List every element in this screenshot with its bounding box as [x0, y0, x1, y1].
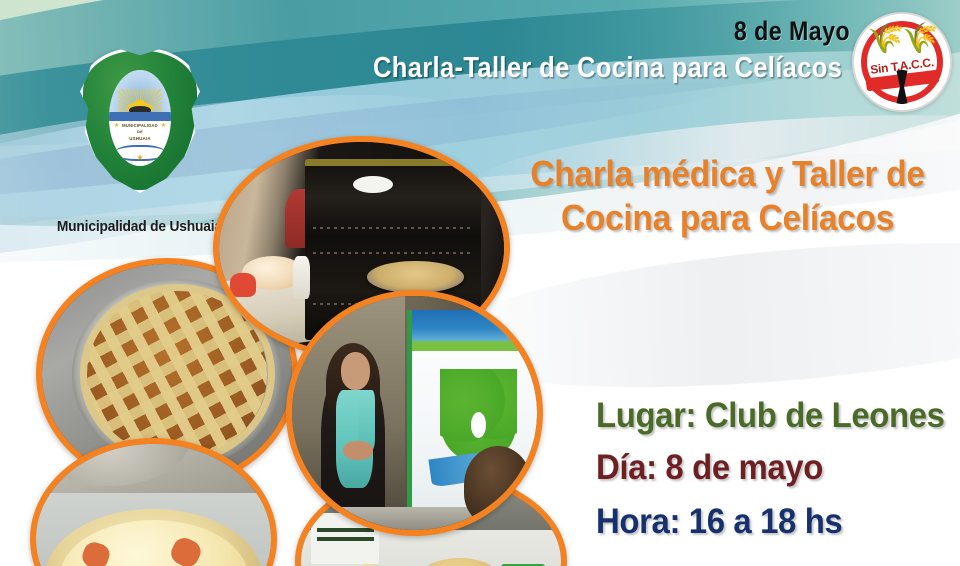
pizza-tart-photo	[30, 438, 277, 566]
oven-rack	[313, 252, 473, 254]
oven-brand-badge	[353, 176, 393, 193]
crest-bottom-star-icon: ★	[136, 154, 143, 162]
crest-line2: DE	[109, 130, 171, 134]
banner-blue-header	[412, 310, 537, 341]
header-date: 8 de Mayo	[734, 16, 850, 47]
baking-pie	[367, 261, 464, 293]
crest-line3: USHUAIA	[109, 137, 171, 141]
pizza-tray	[30, 438, 191, 486]
sign-text-line	[317, 537, 374, 541]
banner-green-strip	[412, 341, 537, 351]
municipality-caption: Municipalidad de Ushuaia	[52, 218, 227, 235]
tacc-stalk-3-icon	[900, 70, 904, 104]
crest-water-band	[109, 112, 171, 121]
flyer-poster: ★ ★ MUNICIPALIDAD DE USHUAIA ★ Municipal…	[0, 0, 960, 566]
presenter-face	[341, 352, 370, 389]
page-title: Charla médica y Taller de Cocina para Ce…	[521, 152, 935, 240]
sin-tacc-badge-icon: 🌾🌾 Sin T.A.C.C.	[852, 12, 952, 112]
presenter-photo	[286, 290, 543, 536]
detail-location: Lugar: Club de Leones	[596, 396, 934, 436]
person-logo-icon	[471, 412, 486, 438]
main-title-line1: Charla médica y Taller de	[521, 152, 935, 196]
presenter-scene	[292, 296, 537, 530]
header-title: Charla-Taller de Cocina para Celíacos	[373, 52, 842, 85]
main-title-line2: Cocina para Celíacos	[521, 196, 935, 240]
presenter-hands	[343, 441, 372, 460]
bottle	[293, 256, 310, 298]
detail-date: Día: 8 de mayo	[596, 448, 934, 488]
audience-head	[464, 446, 533, 526]
detail-time: Hora: 16 a 18 hs	[596, 502, 934, 542]
wheat-icon: 🌾🌾	[854, 24, 950, 54]
municipality-shield-icon: ★ ★ MUNICIPALIDAD DE USHUAIA ★	[80, 48, 200, 193]
pizza-scene	[36, 444, 271, 566]
red-utensil	[230, 273, 256, 296]
oven-rack	[313, 227, 473, 229]
shield-crest: ★ ★ MUNICIPALIDAD DE USHUAIA ★	[109, 70, 171, 166]
crest-line1: MUNICIPALIDAD	[109, 124, 171, 128]
